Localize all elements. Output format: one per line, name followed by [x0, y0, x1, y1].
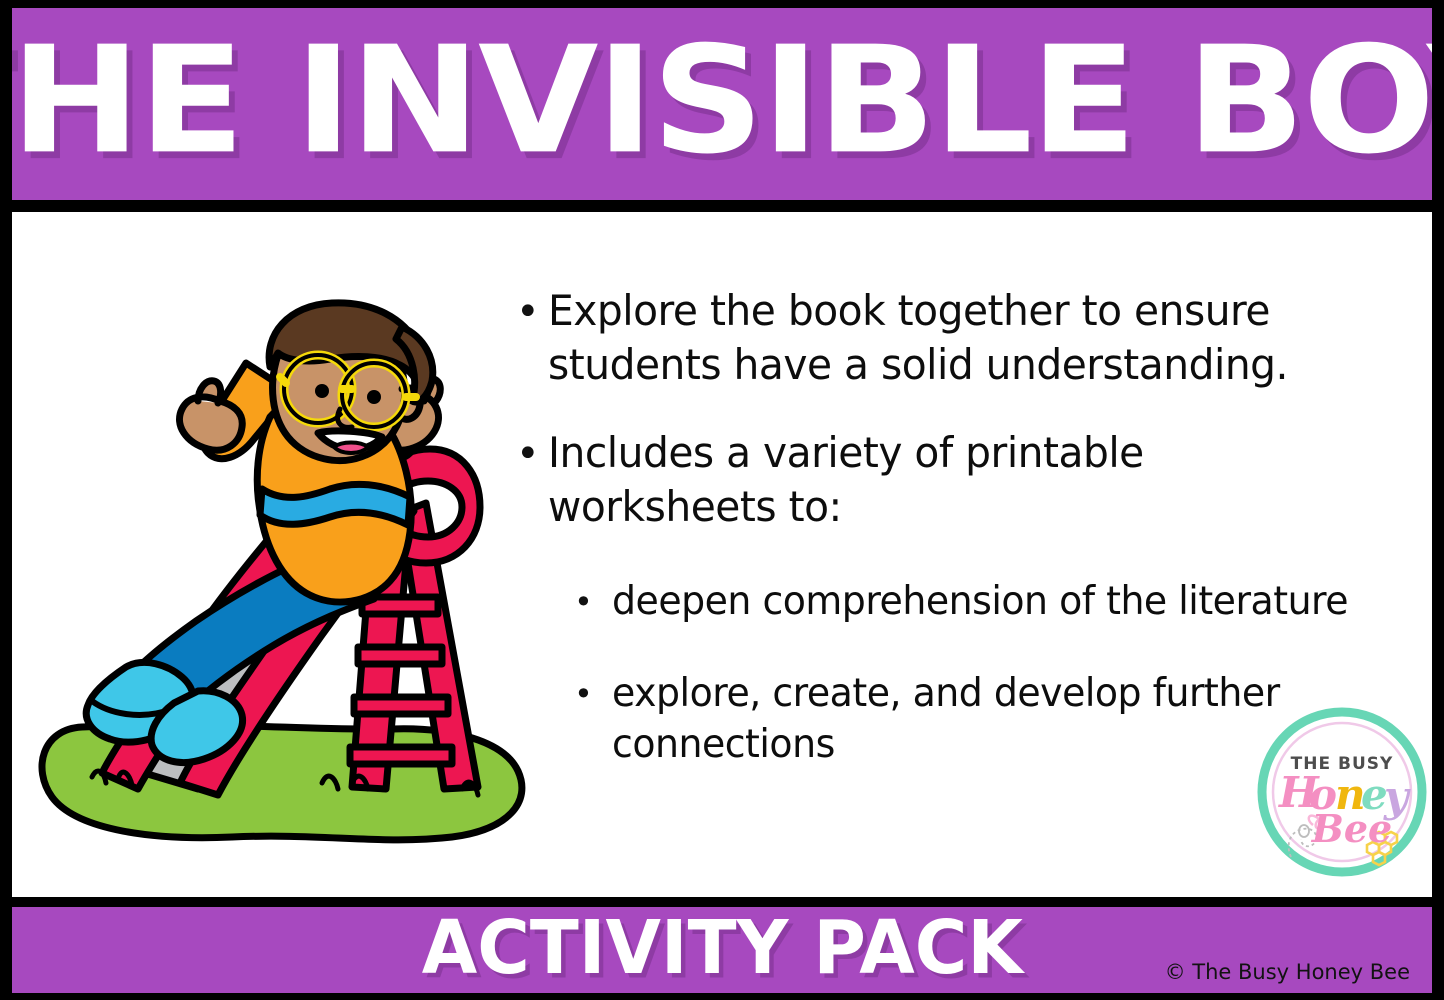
bullet-marker: • [564, 668, 612, 720]
logo-line-3: Bee [1311, 806, 1392, 851]
footer-title-text: ACTIVITY PACK [421, 912, 1022, 986]
bullet-text: explore, create, and develop further con… [612, 668, 1359, 770]
bullet-list: • Explore the book together to ensure st… [502, 284, 1382, 810]
boy-on-slide-illustration [22, 297, 542, 857]
list-item: • deepen comprehension of the literature [564, 576, 1382, 628]
title-banner: THE INVISIBLE BOY [12, 8, 1432, 200]
bullet-text: Includes a variety of printable workshee… [548, 426, 1357, 534]
bullet-marker: • [502, 426, 548, 482]
bullet-text: deepen comprehension of the literature [612, 576, 1359, 627]
content-panel: • Explore the book together to ensure st… [12, 212, 1432, 897]
bullet-marker: • [564, 576, 612, 628]
the-busy-honey-bee-logo: THE BUSY H o n e y Bee [1257, 707, 1427, 877]
page-title: THE INVISIBLE BOY [12, 27, 1432, 175]
list-item: • Includes a variety of printable worksh… [502, 426, 1382, 534]
activity-pack-cover: THE INVISIBLE BOY [0, 0, 1444, 1000]
copyright-notice: © The Busy Honey Bee [1165, 962, 1410, 983]
list-item: • Explore the book together to ensure st… [502, 284, 1382, 392]
bullet-text: Explore the book together to ensure stud… [548, 284, 1357, 392]
footer-banner: ACTIVITY PACK © The Busy Honey Bee [12, 907, 1432, 993]
bullet-marker: • [502, 284, 548, 340]
